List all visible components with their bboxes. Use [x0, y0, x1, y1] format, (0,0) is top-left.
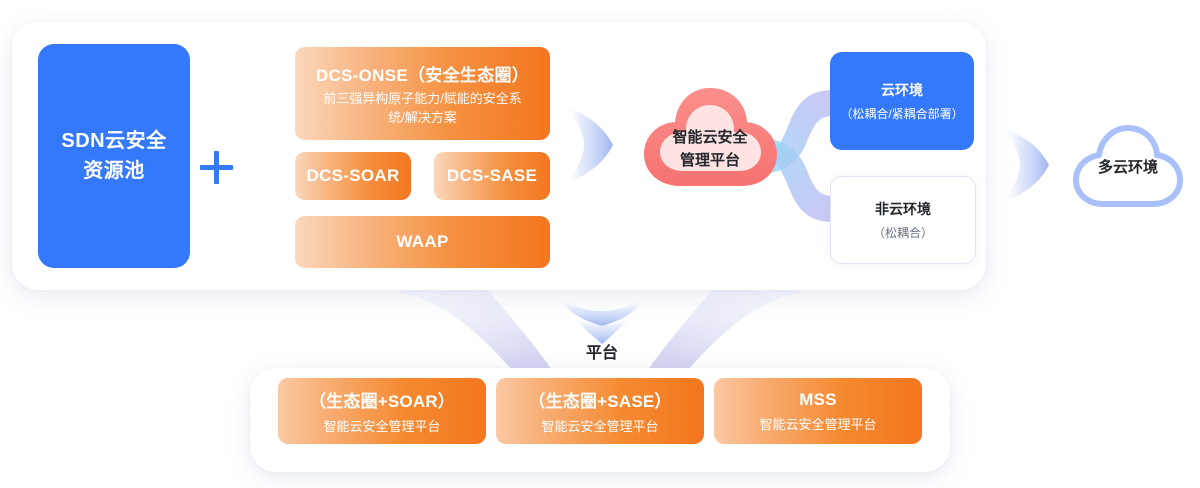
dcs-onse-sub-line2: 统/解决方案 [323, 108, 522, 127]
plus-icon [200, 151, 233, 184]
sdn-label-line2: 资源池 [61, 156, 166, 186]
waap-heading: WAAP [396, 232, 448, 252]
capability-box-dcs-sase[interactable]: DCS-SASE [434, 152, 550, 200]
sdn-resource-pool-card[interactable]: SDN云安全 资源池 [38, 44, 190, 268]
capability-box-dcs-onse[interactable]: DCS-ONSE（安全生态圈） 前三强异构原子能力/赋能的安全系 统/解决方案 [295, 47, 550, 140]
dcs-soar-heading: DCS-SOAR [306, 166, 399, 186]
capability-box-dcs-soar[interactable]: DCS-SOAR [295, 152, 411, 200]
center-cloud-line2: 管理平台 [636, 149, 784, 172]
center-cloud-label: 智能云安全 管理平台 [636, 126, 784, 172]
mss-sub: 智能云安全管理平台 [759, 414, 876, 433]
eco-sase-sub: 智能云安全管理平台 [541, 416, 658, 435]
dcs-onse-heading: DCS-ONSE（安全生态圈） [316, 61, 529, 86]
non-cloud-env-sub: （松耦合） [873, 224, 933, 241]
multi-cloud-label: 多云环境 [1068, 156, 1188, 177]
bottom-card-mss[interactable]: MSS 智能云安全管理平台 [714, 378, 922, 444]
capability-box-waap[interactable]: WAAP [295, 216, 550, 268]
eco-soar-sub: 智能云安全管理平台 [323, 416, 440, 435]
environment-card-cloud[interactable]: 云环境 （松耦合/紧耦合部署） [830, 52, 974, 150]
bottom-card-eco-sase[interactable]: （生态圈+SASE） 智能云安全管理平台 [496, 378, 704, 444]
mss-heading: MSS [799, 390, 836, 410]
arrow-right-to-platform-icon [563, 104, 645, 186]
sdn-label-line1: SDN云安全 [61, 126, 166, 156]
platform-label: 平台 [547, 339, 657, 363]
center-cloud-line1: 智能云安全 [636, 126, 784, 149]
bottom-card-eco-soar[interactable]: （生态圈+SOAR） 智能云安全管理平台 [278, 378, 486, 444]
multi-cloud-environment-cloud[interactable]: 多云环境 [1068, 123, 1188, 209]
cloud-env-heading: 云环境 [881, 80, 923, 100]
non-cloud-env-heading: 非云环境 [875, 199, 931, 219]
dcs-onse-sub-line1: 前三强异构原子能力/赋能的安全系 [323, 89, 522, 108]
environment-card-non-cloud[interactable]: 非云环境 （松耦合） [830, 176, 976, 264]
cloud-env-sub: （松耦合/紧耦合部署） [840, 105, 963, 122]
diagram-canvas: SDN云安全 资源池 DCS-ONSE（安全生态圈） 前三强异构原子能力/赋能的… [0, 0, 1200, 488]
dcs-onse-subtext: 前三强异构原子能力/赋能的安全系 统/解决方案 [323, 89, 522, 127]
intelligent-cloud-security-platform-cloud[interactable]: 智能云安全 管理平台 [636, 82, 784, 208]
dcs-sase-heading: DCS-SASE [447, 166, 537, 186]
eco-soar-heading: （生态圈+SOAR） [309, 387, 455, 412]
eco-sase-heading: （生态圈+SASE） [528, 387, 671, 412]
sdn-resource-pool-label: SDN云安全 资源池 [61, 126, 166, 186]
